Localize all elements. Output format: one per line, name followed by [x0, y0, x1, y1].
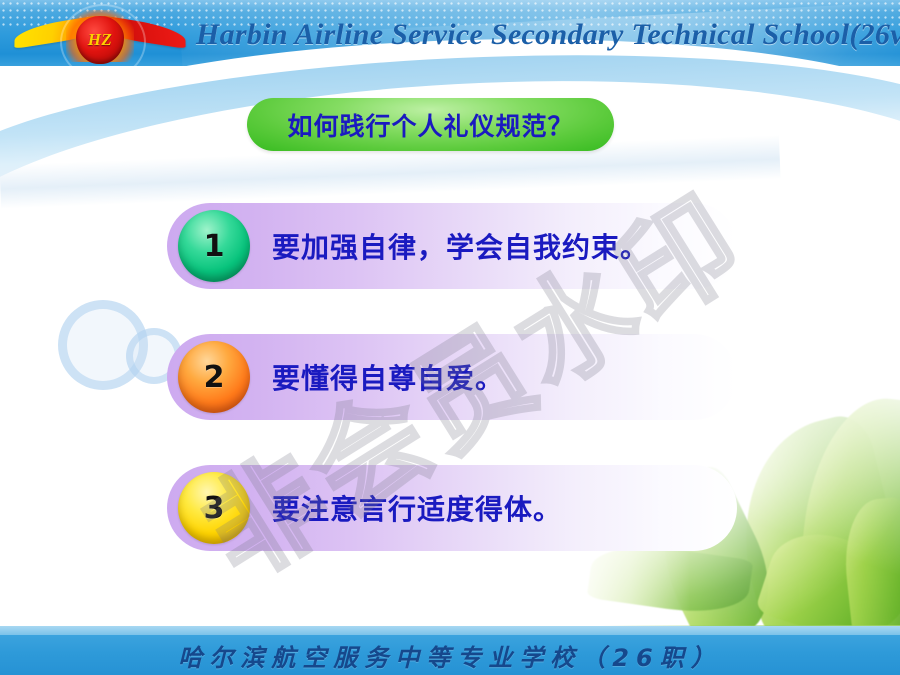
- item-text: 要注意言行适度得体。: [272, 465, 562, 551]
- footer-band: 哈尔滨航空服务中等专业学校（26职）: [0, 635, 900, 675]
- logo-monogram: HZ: [76, 16, 124, 64]
- question-title-pill: 如何践行个人礼仪规范？: [247, 98, 614, 151]
- item-text: 要懂得自尊自爱。: [272, 334, 504, 420]
- item-number-badge: 3: [178, 472, 250, 544]
- list-item: 3 要注意言行适度得体。: [167, 465, 737, 551]
- slide: HZ Harbin Airline Service Secondary Tech…: [0, 0, 900, 675]
- item-number-badge: 2: [178, 341, 250, 413]
- footer-top-stripe: [0, 626, 900, 635]
- item-number-label: 1: [204, 229, 225, 264]
- list-item: 1 要加强自律，学会自我约束。: [167, 203, 737, 289]
- header-title: Harbin Airline Service Secondary Technic…: [196, 12, 886, 58]
- question-title-text: 如何践行个人礼仪规范？: [287, 107, 573, 143]
- item-text: 要加强自律，学会自我约束。: [272, 203, 649, 289]
- item-number-label: 3: [204, 491, 225, 526]
- item-number-label: 2: [204, 360, 225, 395]
- list-item: 2 要懂得自尊自爱。: [167, 334, 737, 420]
- shield-icon: HZ: [76, 16, 124, 64]
- footer-text: 哈尔滨航空服务中等专业学校（26职）: [178, 638, 721, 673]
- item-number-badge: 1: [178, 210, 250, 282]
- school-logo: HZ: [14, 8, 186, 64]
